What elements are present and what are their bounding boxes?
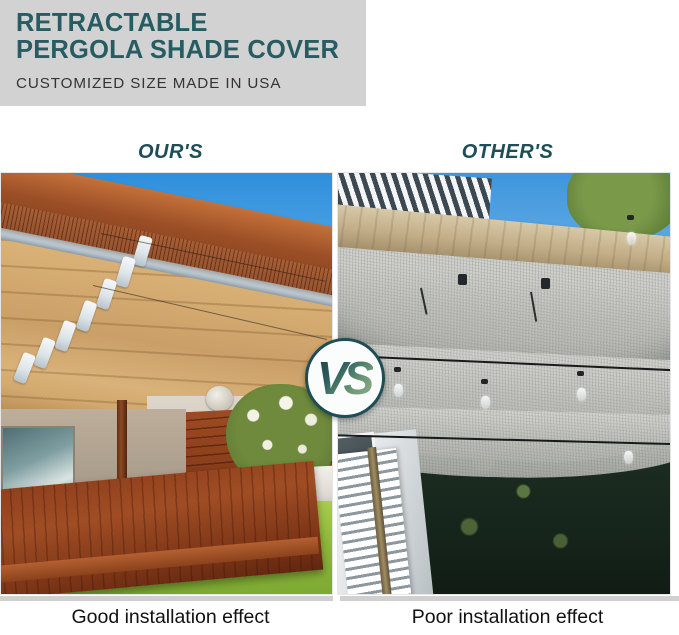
caption-good-installation: Good installation effect	[8, 606, 333, 629]
product-title-line-1: RETRACTABLE	[16, 9, 208, 37]
bulb-socket	[394, 367, 401, 372]
product-title: RETRACTABLE PERGOLA SHADE COVER	[16, 10, 366, 64]
photo-panel-poor-installation	[337, 172, 671, 595]
bulb-socket	[577, 371, 584, 376]
string-light-bulb	[627, 232, 636, 245]
caption-poor-installation: Poor installation effect	[345, 606, 670, 629]
footer-divider	[0, 596, 679, 601]
cable-clamp	[458, 274, 467, 285]
satellite-dish	[206, 386, 232, 411]
bulb-socket	[627, 215, 634, 220]
column-label-ours: OUR'S	[8, 141, 333, 164]
string-light-bulb	[481, 396, 490, 409]
cable-clamp	[541, 278, 550, 289]
versus-label: VS	[317, 355, 373, 401]
header-banner: RETRACTABLE PERGOLA SHADE COVER CUSTOMIZ…	[0, 0, 366, 106]
product-title-line-2: PERGOLA SHADE COVER	[16, 37, 366, 64]
versus-badge: VS	[305, 338, 385, 418]
string-light-bulb	[624, 451, 633, 464]
string-light-bulb	[577, 388, 586, 401]
photo-panel-good-installation	[0, 172, 333, 595]
bulb-socket	[481, 379, 488, 384]
column-label-others: OTHER'S	[345, 141, 670, 164]
product-subtitle: CUSTOMIZED SIZE MADE IN USA	[16, 75, 366, 92]
